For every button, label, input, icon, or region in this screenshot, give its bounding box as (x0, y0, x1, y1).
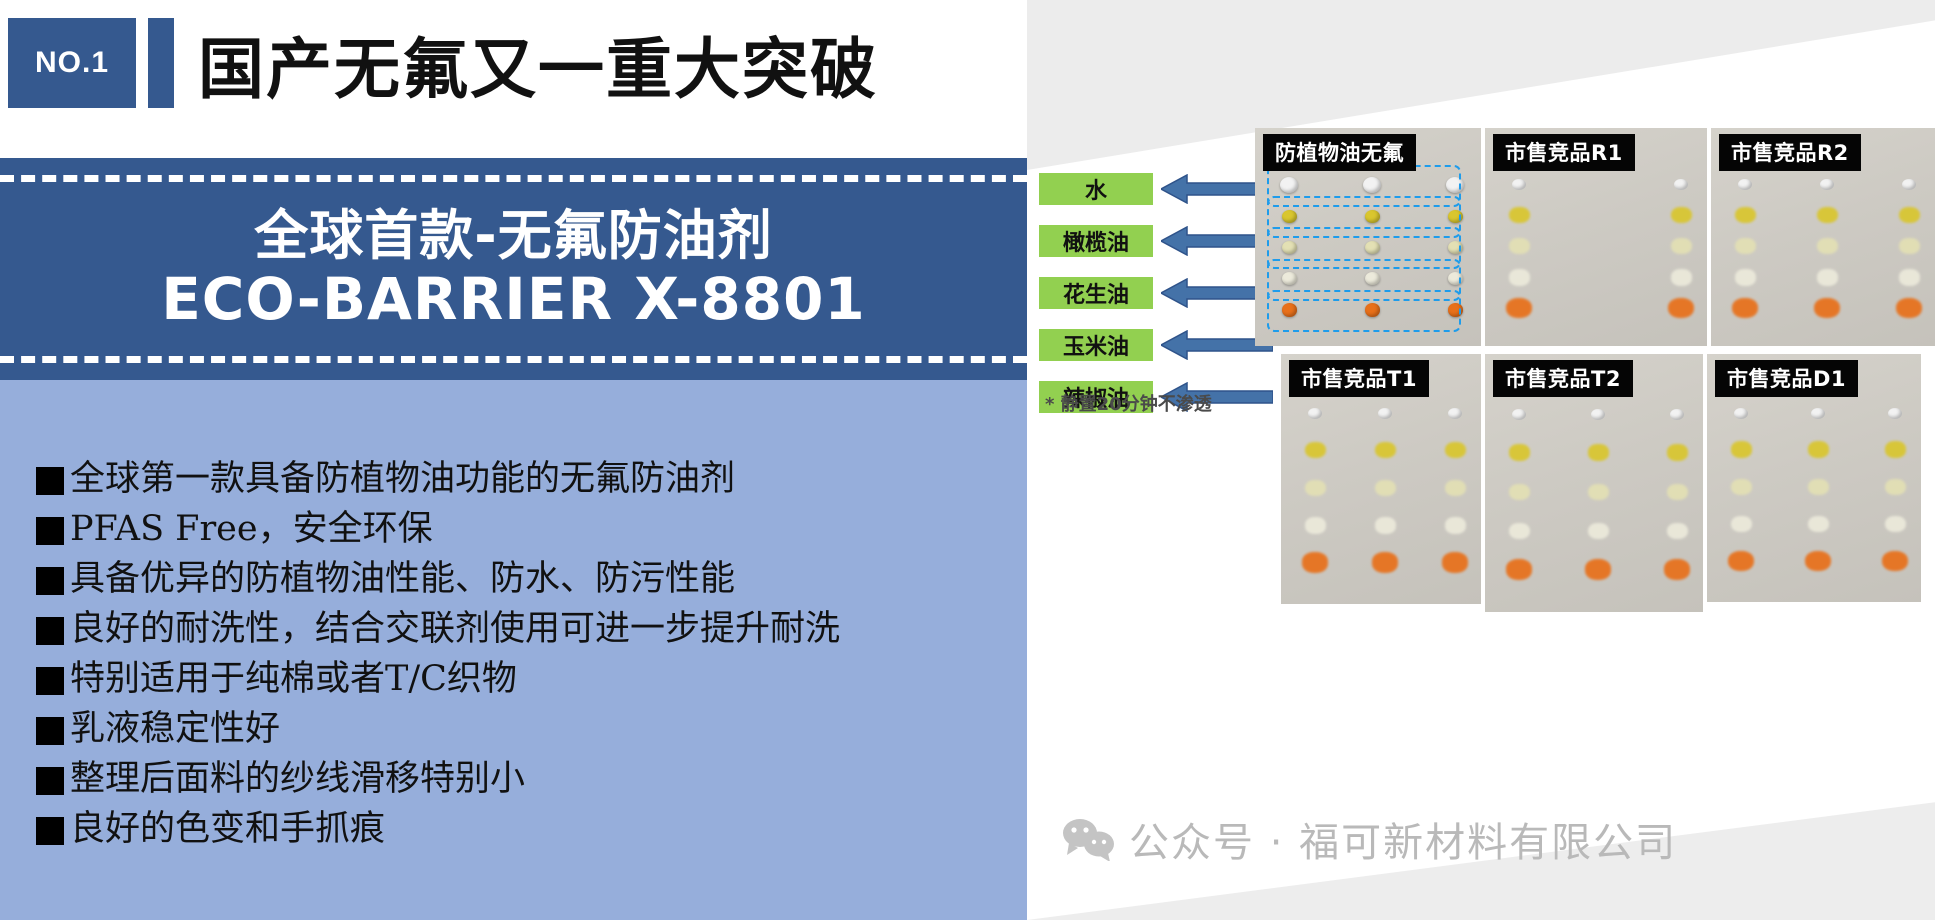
photo-panel: 市售竞品R2 (1711, 128, 1935, 346)
list-item-label: 良好的色变和手抓痕 (70, 812, 385, 847)
droplet-spot (1731, 479, 1752, 495)
wechat-icon (1061, 817, 1115, 861)
droplet-spot (1882, 551, 1908, 571)
droplet-spot (1808, 479, 1829, 495)
droplet-spot (1282, 303, 1297, 316)
droplet-spot (1375, 442, 1396, 458)
droplet-spot (1445, 480, 1466, 496)
photo-panel-label: 市售竞品R1 (1493, 134, 1635, 171)
droplet-spot (1808, 516, 1829, 532)
droplet-spot (1365, 272, 1380, 285)
droplet-spot (1899, 238, 1920, 254)
droplet-spot (1445, 517, 1466, 533)
droplet-spot (1667, 523, 1688, 539)
watermark-text: 公众号 · 福可新材料有限公司 (1129, 810, 1677, 868)
droplet-spot (1820, 179, 1834, 190)
list-item: PFAS Free，安全环保 (36, 512, 1027, 547)
droplet-spot (1817, 207, 1838, 223)
droplet-spot (1814, 298, 1840, 318)
droplet-spot (1738, 179, 1752, 190)
photo-panel-label: 防植物油无氟 (1263, 134, 1416, 171)
droplet-spot (1302, 552, 1328, 572)
droplet-spot (1305, 517, 1326, 533)
droplet-spot (1731, 516, 1752, 532)
right-panel: 水 橄榄油 花生油 玉米油 (1027, 0, 1935, 920)
list-item: 整理后面料的纱线滑移特别小 (36, 762, 1027, 797)
legend-chip-label: 橄榄油 (1039, 225, 1153, 257)
droplet-spot (1899, 269, 1920, 285)
droplet-spot (1899, 207, 1920, 223)
legend-item: 橄榄油 (1039, 224, 1269, 258)
square-bullet-icon (36, 517, 64, 545)
legend-item: 玉米油 (1039, 328, 1269, 362)
list-item: 具备优异的防植物油性能、防水、防污性能 (36, 562, 1027, 597)
list-item-label: PFAS Free，安全环保 (70, 512, 433, 547)
droplet-spot (1588, 444, 1609, 460)
product-banner: 全球首款-无氟防油剂 ECO-BARRIER X-8801 (0, 158, 1027, 380)
droplet-spot (1735, 269, 1756, 285)
square-bullet-icon (36, 717, 64, 745)
list-item-label: 具备优异的防植物油性能、防水、防污性能 (70, 562, 735, 597)
droplet-spot (1671, 238, 1692, 254)
droplet-spot (1445, 442, 1466, 458)
droplet-spot (1375, 517, 1396, 533)
banner-line-1: 全球首款-无氟防油剂 (254, 206, 772, 266)
droplet-spot (1509, 269, 1530, 285)
square-bullet-icon (36, 767, 64, 795)
droplet-spot (1811, 408, 1825, 419)
droplet-spot (1509, 523, 1530, 539)
list-item: 全球第一款具备防植物油功能的无氟防油剂 (36, 462, 1027, 497)
square-bullet-icon (36, 567, 64, 595)
photo-panel: 市售竞品T1 (1281, 354, 1481, 604)
droplet-spot (1448, 241, 1463, 254)
square-bullet-icon (36, 617, 64, 645)
droplet-spot (1588, 484, 1609, 500)
droplet-spot (1282, 210, 1297, 223)
droplet-spot (1378, 408, 1392, 419)
photo-panel-label: 市售竞品R2 (1719, 134, 1861, 171)
droplet-spot (1817, 238, 1838, 254)
droplet-spot (1888, 408, 1902, 419)
list-item: 良好的色变和手抓痕 (36, 812, 1027, 847)
droplet-spot (1375, 480, 1396, 496)
droplet-spot (1732, 298, 1758, 318)
slide-root: NO.1 国产无氟又一重大突破 全球首款-无氟防油剂 ECO-BARRIER X… (0, 0, 1935, 920)
droplet-spot (1674, 179, 1688, 190)
photo-row-bottom: 市售竞品T1 市售竞品T2 市售竞品D1 (1255, 354, 1935, 612)
droplet-spot (1731, 441, 1752, 457)
banner-line-2: ECO-BARRIER X-8801 (161, 267, 866, 332)
droplet-spot (1365, 241, 1380, 254)
legend-chip-label: 花生油 (1039, 277, 1153, 309)
badge-accent-bar (148, 18, 174, 108)
droplet-spot (1365, 210, 1380, 223)
droplet-spot (1506, 559, 1532, 579)
droplet-spot (1591, 409, 1605, 420)
page-title: 国产无氟又一重大突破 (198, 18, 878, 110)
droplet-spot (1734, 408, 1748, 419)
droplet-spot (1885, 441, 1906, 457)
droplet-spot (1585, 559, 1611, 579)
droplet-spot (1365, 303, 1380, 316)
droplet-spot (1588, 523, 1609, 539)
droplet-spot (1506, 298, 1532, 318)
legend-chip-label: 水 (1039, 173, 1153, 205)
square-bullet-icon (36, 667, 64, 695)
droplet-spot (1280, 177, 1298, 193)
watermark: 公众号 · 福可新材料有限公司 (1061, 810, 1677, 868)
droplet-spot (1671, 269, 1692, 285)
photo-panel: 市售竞品R1 (1485, 128, 1707, 346)
droplet-spot (1448, 303, 1463, 316)
droplet-spot (1664, 559, 1690, 579)
droplet-spot (1728, 551, 1754, 571)
droplet-spot (1805, 551, 1831, 571)
test-photo-grid: 防植物油无氟 市售竞品R1 市售竞品R2 市售竞品T1 市售 (1255, 128, 1935, 612)
droplet-spot (1668, 298, 1694, 318)
droplet-spot (1902, 179, 1916, 190)
photo-panel: 市售竞品D1 (1707, 354, 1921, 602)
droplet-spot (1512, 409, 1526, 420)
droplet-spot (1896, 298, 1922, 318)
photo-panel-label: 市售竞品T2 (1493, 360, 1633, 397)
square-bullet-icon (36, 817, 64, 845)
legend-chip-label: 玉米油 (1039, 329, 1153, 361)
list-item-label: 特别适用于纯棉或者T/C织物 (70, 662, 517, 697)
droplet-spot (1282, 272, 1297, 285)
droplet-spot (1509, 207, 1530, 223)
left-column: NO.1 国产无氟又一重大突破 全球首款-无氟防油剂 ECO-BARRIER X… (0, 0, 1027, 920)
droplet-spot (1305, 480, 1326, 496)
header: NO.1 国产无氟又一重大突破 (0, 0, 1027, 158)
photo-panel-label: 市售竞品D1 (1715, 360, 1858, 397)
droplet-spot (1509, 238, 1530, 254)
footnote-text: * 静置20分钟不渗透 (1045, 390, 1212, 416)
list-item: 乳液稳定性好 (36, 712, 1027, 747)
photo-panel: 市售竞品T2 (1485, 354, 1703, 612)
list-item-label: 乳液稳定性好 (70, 712, 280, 747)
droplet-spot (1512, 179, 1526, 190)
photo-row-top: 防植物油无氟 市售竞品R1 市售竞品R2 (1255, 128, 1935, 346)
droplet-spot (1667, 484, 1688, 500)
legend-item: 花生油 (1039, 276, 1269, 310)
list-item: 特别适用于纯棉或者T/C织物 (36, 662, 1027, 697)
droplet-spot (1448, 210, 1463, 223)
droplet-spot (1817, 269, 1838, 285)
list-item-label: 良好的耐洗性，结合交联剂使用可进一步提升耐洗 (70, 612, 840, 647)
droplet-spot (1671, 207, 1692, 223)
droplet-spot (1735, 207, 1756, 223)
no1-badge: NO.1 (8, 18, 136, 108)
droplet-spot (1808, 441, 1829, 457)
droplet-spot (1446, 177, 1464, 193)
droplet-spot (1667, 444, 1688, 460)
legend-item: 水 (1039, 172, 1269, 206)
droplet-spot (1442, 552, 1468, 572)
droplet-spot (1735, 238, 1756, 254)
droplet-spot (1372, 552, 1398, 572)
list-item: 良好的耐洗性，结合交联剂使用可进一步提升耐洗 (36, 612, 1027, 647)
droplet-spot (1670, 409, 1684, 420)
square-bullet-icon (36, 467, 64, 495)
droplet-spot (1308, 408, 1322, 419)
droplet-spot (1448, 272, 1463, 285)
droplet-spot (1282, 241, 1297, 254)
droplet-spot (1885, 516, 1906, 532)
photo-panel-label: 市售竞品T1 (1289, 360, 1429, 397)
droplet-spot (1363, 177, 1381, 193)
droplet-spot (1305, 442, 1326, 458)
droplet-spot (1885, 479, 1906, 495)
droplet-spot (1448, 408, 1462, 419)
droplet-spot (1509, 484, 1530, 500)
photo-panel: 防植物油无氟 (1255, 128, 1481, 346)
list-item-label: 整理后面料的纱线滑移特别小 (70, 762, 525, 797)
droplet-spot (1509, 444, 1530, 460)
list-item-label: 全球第一款具备防植物油功能的无氟防油剂 (70, 462, 735, 497)
feature-list: 全球第一款具备防植物油功能的无氟防油剂 PFAS Free，安全环保 具备优异的… (0, 380, 1027, 920)
